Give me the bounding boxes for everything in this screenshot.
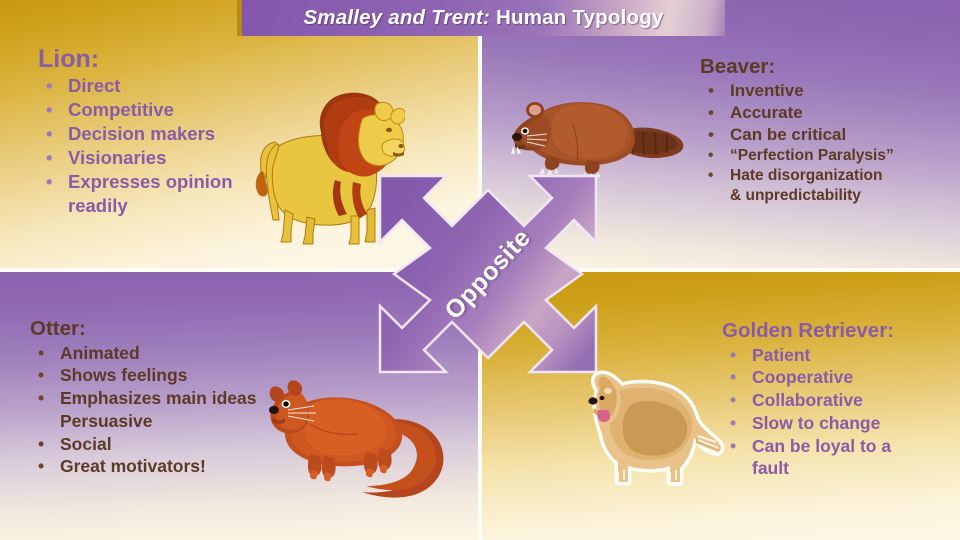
bullet-item: •“Perfection Paralysis” bbox=[700, 146, 894, 166]
bullet-item: •Can be loyal to a bbox=[722, 435, 894, 458]
bullet-text: readily bbox=[68, 195, 128, 216]
bullet-dot-icon: • bbox=[708, 80, 714, 102]
bullet-dot-icon: • bbox=[46, 98, 52, 122]
bullet-item: fault bbox=[722, 457, 894, 480]
bullet-text: Collaborative bbox=[752, 390, 863, 410]
bullet-dot-icon: • bbox=[46, 74, 52, 98]
bullet-dot-icon: • bbox=[708, 166, 713, 186]
bullet-item: •Social bbox=[30, 433, 256, 456]
bullet-item: & unpredictability bbox=[700, 186, 894, 206]
bullet-dot-icon: • bbox=[730, 435, 736, 458]
bullet-dot-icon: • bbox=[38, 455, 44, 478]
bullet-text: Can be critical bbox=[730, 125, 846, 144]
bullet-item: •Animated bbox=[30, 342, 256, 365]
bullet-text: Cooperative bbox=[752, 367, 853, 387]
bullet-text: Inventive bbox=[730, 81, 804, 100]
bullet-text: Social bbox=[60, 434, 112, 454]
bullet-dot-icon: • bbox=[708, 146, 713, 166]
bullet-dot-icon: • bbox=[38, 433, 44, 456]
bullet-text: Decision makers bbox=[68, 123, 215, 144]
bullet-text: Visionaries bbox=[68, 147, 166, 168]
bullet-item: •Emphasizes main ideas bbox=[30, 387, 256, 410]
bullet-item: •Collaborative bbox=[722, 389, 894, 412]
bullet-text: Shows feelings bbox=[60, 365, 187, 385]
page-title: Smalley and Trent: Human Typology bbox=[303, 6, 663, 30]
bullet-item: •Visionaries bbox=[38, 146, 233, 170]
bullet-text: Emphasizes main ideas bbox=[60, 388, 256, 408]
bullet-text: Great motivators! bbox=[60, 456, 206, 476]
bullet-item: •Shows feelings bbox=[30, 364, 256, 387]
bullet-item: readily bbox=[38, 194, 233, 218]
text-block-beaver: Beaver: •Inventive•Accurate•Can be criti… bbox=[700, 56, 894, 206]
text-block-otter: Otter: •Animated•Shows feelings•Emphasiz… bbox=[30, 318, 256, 478]
heading-golden-retriever: Golden Retriever: bbox=[722, 320, 894, 342]
bullet-dot-icon: • bbox=[46, 170, 52, 194]
bullet-text: & unpredictability bbox=[730, 187, 861, 204]
bullet-dot-icon: • bbox=[730, 366, 736, 389]
bullet-item: •Hate disorganization bbox=[700, 166, 894, 186]
bullet-dot-icon: • bbox=[46, 122, 52, 146]
four-way-arrow-icon bbox=[372, 168, 604, 380]
slide-canvas: Smalley and Trent: Human Typology Lion: … bbox=[0, 0, 960, 540]
bullet-list-lion: •Direct•Competitive•Decision makers•Visi… bbox=[38, 74, 233, 218]
bullet-dot-icon: • bbox=[46, 146, 52, 170]
bullet-item: •Patient bbox=[722, 344, 894, 367]
bullet-text: Direct bbox=[68, 75, 120, 96]
bullet-text: Competitive bbox=[68, 99, 174, 120]
heading-beaver: Beaver: bbox=[700, 56, 894, 78]
bullet-text: “Perfection Paralysis” bbox=[730, 147, 894, 164]
bullet-item: •Can be critical bbox=[700, 124, 894, 146]
text-block-lion: Lion: •Direct•Competitive•Decision maker… bbox=[38, 46, 233, 219]
bullet-dot-icon: • bbox=[38, 364, 44, 387]
bullet-text: Patient bbox=[752, 345, 810, 365]
bullet-item: •Cooperative bbox=[722, 366, 894, 389]
heading-otter: Otter: bbox=[30, 318, 256, 340]
text-block-golden-retriever: Golden Retriever: •Patient•Cooperative•C… bbox=[722, 320, 894, 480]
bullet-item: •Expresses opinion bbox=[38, 170, 233, 194]
otter-illustration bbox=[262, 366, 450, 500]
bullet-dot-icon: • bbox=[730, 344, 736, 367]
bullet-text: Persuasive bbox=[60, 411, 152, 431]
title-italic-part: Smalley and Trent: bbox=[303, 6, 490, 29]
bullet-dot-icon: • bbox=[38, 342, 44, 365]
bullet-text: Expresses opinion bbox=[68, 171, 233, 192]
bullet-item: Persuasive bbox=[30, 410, 256, 433]
bullet-text: Hate disorganization bbox=[730, 167, 882, 184]
bullet-dot-icon: • bbox=[38, 387, 44, 410]
bullet-dot-icon: • bbox=[730, 389, 736, 412]
bullet-list-otter: •Animated•Shows feelings•Emphasizes main… bbox=[30, 342, 256, 479]
bullet-item: •Competitive bbox=[38, 98, 233, 122]
bullet-text: Animated bbox=[60, 343, 140, 363]
bullet-item: •Direct bbox=[38, 74, 233, 98]
bullet-dot-icon: • bbox=[730, 412, 736, 435]
bullet-text: Accurate bbox=[730, 103, 803, 122]
bullet-text: Slow to change bbox=[752, 413, 880, 433]
heading-lion: Lion: bbox=[38, 46, 233, 72]
bullet-list-beaver: •Inventive•Accurate•Can be critical•“Per… bbox=[700, 80, 894, 207]
title-banner: Smalley and Trent: Human Typology bbox=[237, 0, 725, 36]
bullet-list-golden-retriever: •Patient•Cooperative•Collaborative•Slow … bbox=[722, 344, 894, 481]
bullet-dot-icon: • bbox=[708, 124, 714, 146]
bullet-item: •Decision makers bbox=[38, 122, 233, 146]
bullet-text: Can be loyal to a bbox=[752, 436, 891, 456]
bullet-dot-icon: • bbox=[708, 102, 714, 124]
bullet-text: fault bbox=[752, 458, 789, 478]
title-plain-part: Human Typology bbox=[490, 6, 663, 29]
bullet-item: •Great motivators! bbox=[30, 455, 256, 478]
bullet-item: •Inventive bbox=[700, 80, 894, 102]
bullet-item: •Accurate bbox=[700, 102, 894, 124]
bullet-item: •Slow to change bbox=[722, 412, 894, 435]
